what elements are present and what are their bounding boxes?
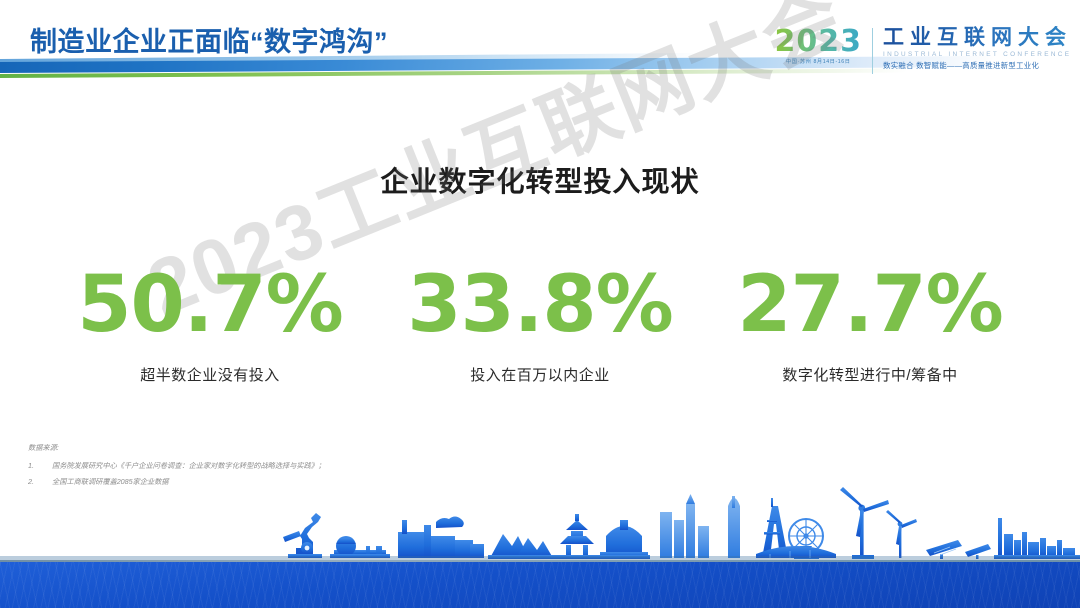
skyscraper-cluster-icon bbox=[660, 494, 709, 558]
stat-value-3: 27.7% bbox=[720, 262, 1020, 348]
wind-turbine-icon bbox=[840, 487, 889, 559]
refinery-icon bbox=[994, 518, 1080, 559]
logo-slogan: 数实融合 数智赋能——高质量推进新型工业化 bbox=[883, 60, 1072, 71]
logo-name-en: INDUSTRIAL INTERNET CONFERENCE bbox=[883, 50, 1072, 60]
dome-building-icon bbox=[598, 520, 650, 559]
stat-label-3: 数字化转型进行中/筹备中 bbox=[720, 364, 1020, 385]
pagoda-icon bbox=[558, 514, 598, 559]
slide-canvas: 制造业企业正面临“数字鸿沟” 2023 中国·苏州 8月14日-16日 工业互联… bbox=[0, 0, 1080, 608]
slide-header: 制造业企业正面临“数字鸿沟” 2023 中国·苏州 8月14日-16日 工业互联… bbox=[0, 0, 1080, 92]
statistics-row: 50.7% 超半数企业没有投入 33.8% 投入在百万以内企业 27.7% 数字… bbox=[60, 262, 1020, 385]
footnote-heading: 数据来源: bbox=[28, 440, 325, 456]
stat-label-2: 投入在百万以内企业 bbox=[390, 364, 690, 385]
page-title: 制造业企业正面临“数字鸿沟” bbox=[30, 20, 388, 59]
mountain-skyline-icon bbox=[488, 534, 558, 559]
footnote-text-1: 国务院发展研究中心《千户企业问卷调查：企业家对数字化转型的战略选择与实践》； bbox=[52, 458, 325, 474]
bottom-band-texture bbox=[0, 562, 1080, 608]
logo-name-cn: 工业互联网大会 bbox=[883, 26, 1072, 50]
footnote-item-1: 1. 国务院发展研究中心《千户企业问卷调查：企业家对数字化转型的战略选择与实践》… bbox=[28, 458, 325, 474]
stat-card-3: 27.7% 数字化转型进行中/筹备中 bbox=[720, 262, 1020, 385]
landmark-tower-icon bbox=[728, 496, 740, 558]
stat-card-1: 50.7% 超半数企业没有投入 bbox=[60, 262, 360, 385]
content-title: 企业数字化转型投入现状 bbox=[0, 160, 1080, 200]
stat-value-1: 50.7% bbox=[60, 262, 360, 348]
factory-icon bbox=[398, 517, 484, 559]
stat-value-2: 33.8% bbox=[390, 262, 690, 348]
wind-turbine-small-icon bbox=[886, 510, 917, 558]
logo-year-block: 2023 中国·苏州 8月14日-16日 bbox=[775, 26, 873, 66]
logo-date-location: 中国·苏州 8月14日-16日 bbox=[775, 58, 863, 66]
stat-label-1: 超半数企业没有投入 bbox=[60, 364, 360, 385]
stat-card-2: 33.8% 投入在百万以内企业 bbox=[390, 262, 690, 385]
industrial-skyline-illustration bbox=[0, 484, 1080, 562]
robot-arm-icon bbox=[283, 513, 322, 558]
logo-name-block: 工业互联网大会 INDUSTRIAL INTERNET CONFERENCE 数… bbox=[883, 26, 1072, 71]
logo-year: 2023 bbox=[775, 26, 863, 58]
logo-divider bbox=[872, 28, 873, 74]
pipeline-machine-icon bbox=[330, 536, 390, 558]
footnote-number-1: 1. bbox=[28, 458, 52, 474]
data-source-footnotes: 数据来源: 1. 国务院发展研究中心《千户企业问卷调查：企业家对数字化转型的战略… bbox=[28, 440, 325, 490]
conference-logo: 2023 中国·苏州 8月14日-16日 工业互联网大会 INDUSTRIAL … bbox=[775, 26, 1073, 80]
